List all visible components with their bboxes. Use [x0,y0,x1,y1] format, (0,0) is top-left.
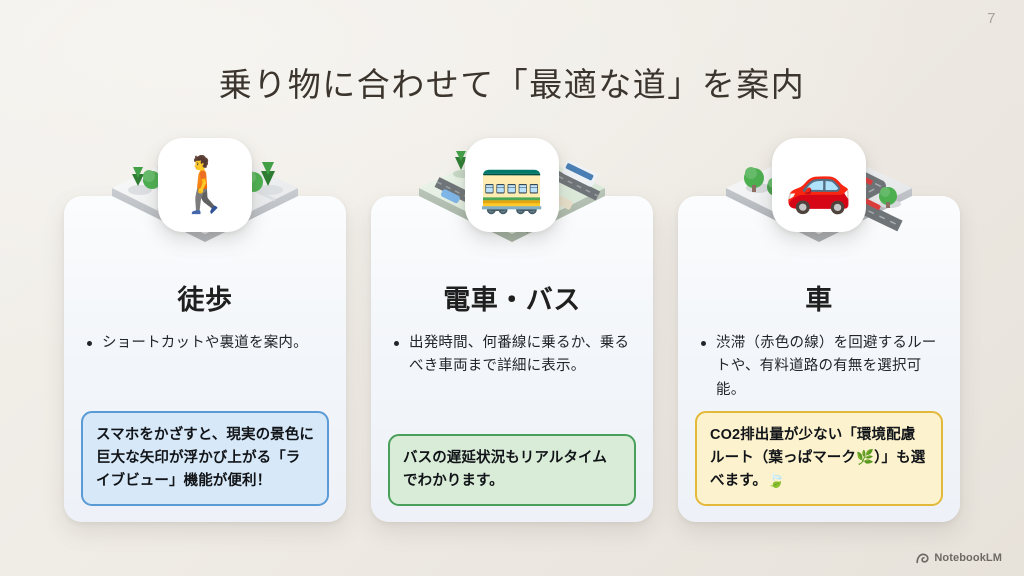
card-heading-train-bus: 電車・バス [371,278,653,317]
car-glyph: 🚗 [785,158,852,212]
page-title: 乗り物に合わせて「最適な道」を案内 [0,58,1024,106]
card-heading-car: 車 [678,278,960,317]
card-train-bus[interactable]: 🚃 電車・バス 出発時間、何番線に乗るか、乗るべき車両まで詳細に表示。 バスの遅… [371,196,653,522]
list-item: 出発時間、何番線に乗るか、乗るべき車両まで詳細に表示。 [393,332,635,379]
walking-person-glyph: 🚶 [171,158,238,212]
train-glyph: 🚃 [478,158,545,212]
bullet-list-car: 渋滞（赤色の線）を回避するルートや、有料道路の有無を選択可能。 [700,332,942,402]
list-item: ショートカットや裏道を案内。 [86,332,328,355]
car-icon: 🚗 [772,138,866,232]
bullet-list-train-bus: 出発時間、何番線に乗るか、乗るべき車両まで詳細に表示。 [393,332,635,379]
callout-train-bus: バスの遅延状況もリアルタイムでわかります。 [388,434,636,506]
page-number: 7 [987,10,996,27]
card-heading-walking: 徒歩 [64,278,346,317]
train-icon: 🚃 [465,138,559,232]
notebooklm-label: NotebookLM [934,552,1002,564]
card-row: 🚶 徒歩 ショートカットや裏道を案内。 スマホをかざすと、現実の景色に巨大な矢印… [64,196,960,522]
callout-car: CO2排出量が少ない「環境配慮ルート（葉っぱマーク🌿）」も選べます。🍃 [695,411,943,506]
card-walking[interactable]: 🚶 徒歩 ショートカットや裏道を案内。 スマホをかざすと、現実の景色に巨大な矢印… [64,196,346,522]
list-item: 渋滞（赤色の線）を回避するルートや、有料道路の有無を選択可能。 [700,332,942,402]
bullet-list-walking: ショートカットや裏道を案内。 [86,332,328,355]
notebooklm-logo-icon [916,553,929,564]
walking-person-icon: 🚶 [158,138,252,232]
callout-walking: スマホをかざすと、現実の景色に巨大な矢印が浮かび上がる「ライブビュー」機能が便利… [81,411,329,506]
slide-canvas: 7 乗り物に合わせて「最適な道」を案内 [0,0,1024,576]
notebooklm-watermark: NotebookLM [916,552,1002,564]
card-car[interactable]: 🚗 車 渋滞（赤色の線）を回避するルートや、有料道路の有無を選択可能。 CO2排… [678,196,960,522]
